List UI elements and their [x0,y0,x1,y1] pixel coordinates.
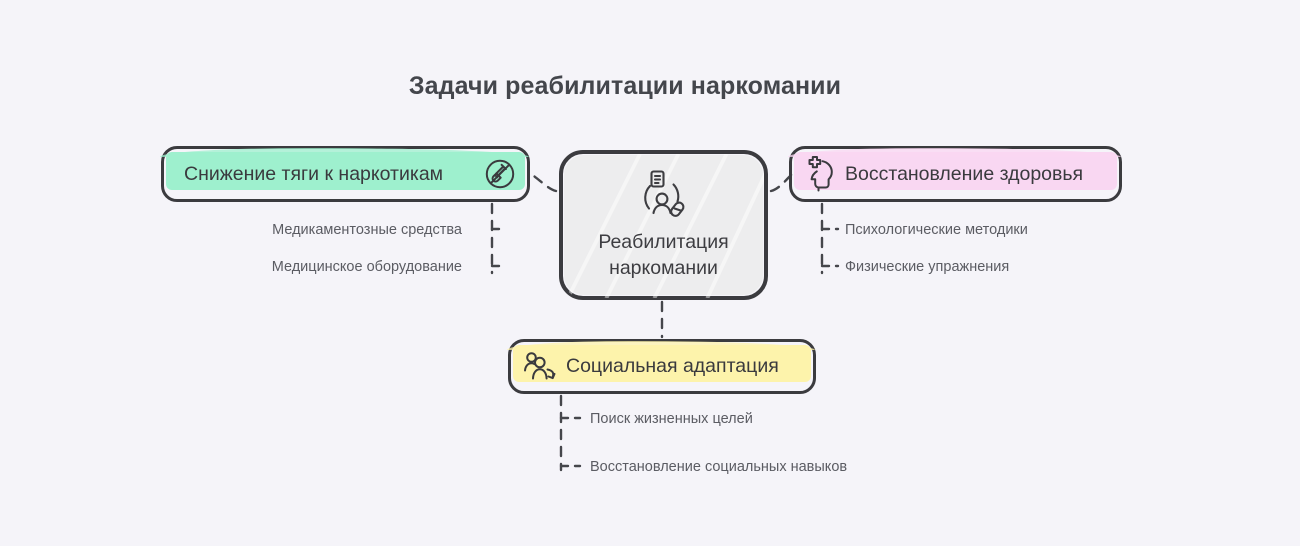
branch-node-right-label: Восстановление здоровья [845,163,1083,186]
leaf-label-left-1: Медикаментозные средства [272,222,462,238]
branch-node-bottom-label: Социальная адаптация [566,355,779,378]
central-node[interactable]: Реабилитация наркомании [559,150,768,300]
leaf-label-right-2: Физические упражнения [845,259,1009,275]
leaf-label-bottom-2: Восстановление социальных навыков [590,459,847,475]
people-group-arrow-icon [522,350,558,384]
central-node-label-line2: наркомании [598,255,728,281]
central-node-label-line1: Реабилитация [598,229,728,255]
connector-center-to-left [531,174,556,191]
no-drugs-icon [483,157,517,191]
page-title: Задачи реабилитации наркомании [0,72,1250,101]
central-node-label: Реабилитация наркомании [598,229,728,281]
person-document-pill-icon [637,169,691,219]
branch-node-bottom[interactable]: Социальная адаптация [508,339,816,394]
leaf-label-right-1: Психологические методики [845,222,1028,238]
branch-node-left[interactable]: Снижение тяги к наркотикам [161,146,530,202]
branch-node-right[interactable]: Восстановление здоровья [789,146,1122,202]
head-medical-cross-icon [803,156,837,192]
leaf-label-left-2: Медицинское оборудование [272,259,462,275]
branch-node-left-label: Снижение тяги к наркотикам [184,163,443,186]
mindmap-canvas: Задачи реабилитации наркомании [0,0,1300,546]
leaf-label-bottom-1: Поиск жизненных целей [590,411,753,427]
